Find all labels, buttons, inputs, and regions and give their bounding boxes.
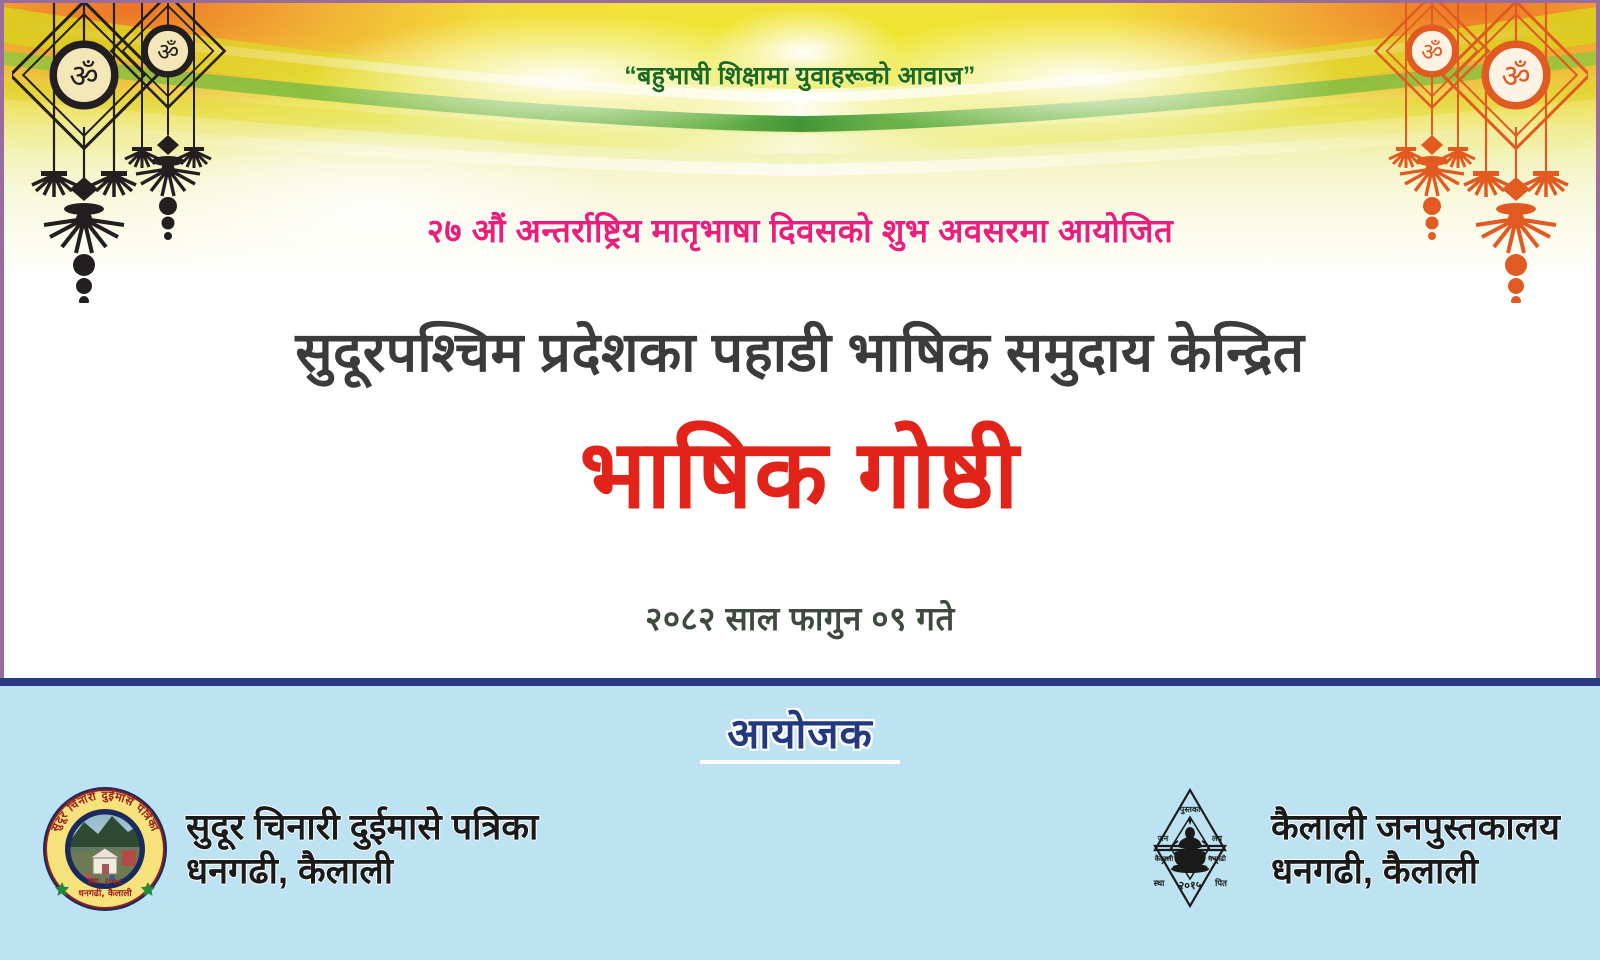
occasion-line: २७ औं अन्तर्राष्ट्रिय मातृभाषा दिवसको शु… bbox=[4, 207, 1596, 252]
organizer-heading: आयोजक bbox=[0, 704, 1600, 761]
organizer-name: सुदूर चिनारी दुईमासे पत्रिका bbox=[186, 806, 538, 847]
seal-established-text: स्था. २०७८ bbox=[87, 877, 123, 887]
page-title: सुदूरपश्चिम प्रदेशका पहाडी भाषिक समुदाय … bbox=[4, 313, 1596, 388]
event-headline: भाषिक गोष्ठी bbox=[4, 423, 1596, 528]
logo-point-top: पुस्तका bbox=[1179, 805, 1201, 815]
event-tagline: “बहुभाषी शिक्षामा युवाहरूको आवाज” bbox=[4, 58, 1596, 92]
organizer-address: धनगढी, कैलाली bbox=[1271, 849, 1560, 893]
logo-point-bottom-left: कैलाली bbox=[1154, 854, 1175, 863]
kailali-public-library-star-logo: पुस्तका जन लय कैलाली धनगढी स्था २०१५ पित bbox=[1125, 784, 1255, 914]
organizer-item-library: पुस्तका जन लय कैलाली धनगढी स्था २०१५ पित… bbox=[1125, 784, 1560, 914]
sudur-chinari-magazine-seal-logo: सुदूर चिनारी दुईमासे पत्रिका धनगढी, कैला… bbox=[40, 784, 170, 914]
top-panel: ॐ bbox=[0, 0, 1600, 678]
section-divider bbox=[0, 678, 1600, 686]
organizer-name: कैलाली जनपुस्तकालय bbox=[1271, 806, 1560, 847]
banner-poster: ॐ bbox=[0, 0, 1600, 960]
organizer-item-magazine: सुदूर चिनारी दुईमासे पत्रिका धनगढी, कैला… bbox=[40, 784, 538, 914]
logo-point-bottom-right: धनगढी bbox=[1208, 854, 1227, 863]
logo-established-suffix: पित bbox=[1214, 878, 1228, 889]
organizer-panel: आयोजक bbox=[0, 686, 1600, 960]
organizer-heading-underline bbox=[700, 760, 900, 764]
seal-bottom-text: धनगढी, कैलाली bbox=[78, 887, 132, 899]
background-gradient bbox=[4, 3, 1596, 303]
logo-established-year: २०१५ bbox=[1179, 879, 1202, 892]
logo-established-prefix: स्था bbox=[1153, 879, 1166, 889]
kailali-library-logo-wrap: पुस्तका जन लय कैलाली धनगढी स्था २०१५ पित bbox=[1125, 784, 1255, 914]
organizer-row: सुदूर चिनारी दुईमासे पत्रिका धनगढी, कैला… bbox=[0, 784, 1600, 954]
organizer-name-block: कैलाली जनपुस्तकालय धनगढी, कैलाली bbox=[1271, 805, 1560, 893]
sudur-chinari-seal-logo-wrap: सुदूर चिनारी दुईमासे पत्रिका धनगढी, कैला… bbox=[40, 784, 170, 914]
event-date: २०८२ साल फागुन ०९ गते bbox=[4, 595, 1596, 640]
logo-point-left: जन bbox=[1157, 834, 1169, 843]
organizer-name-block: सुदूर चिनारी दुईमासे पत्रिका धनगढी, कैला… bbox=[186, 805, 538, 893]
organizer-address: धनगढी, कैलाली bbox=[186, 849, 538, 893]
logo-point-right: लय bbox=[1211, 834, 1222, 843]
